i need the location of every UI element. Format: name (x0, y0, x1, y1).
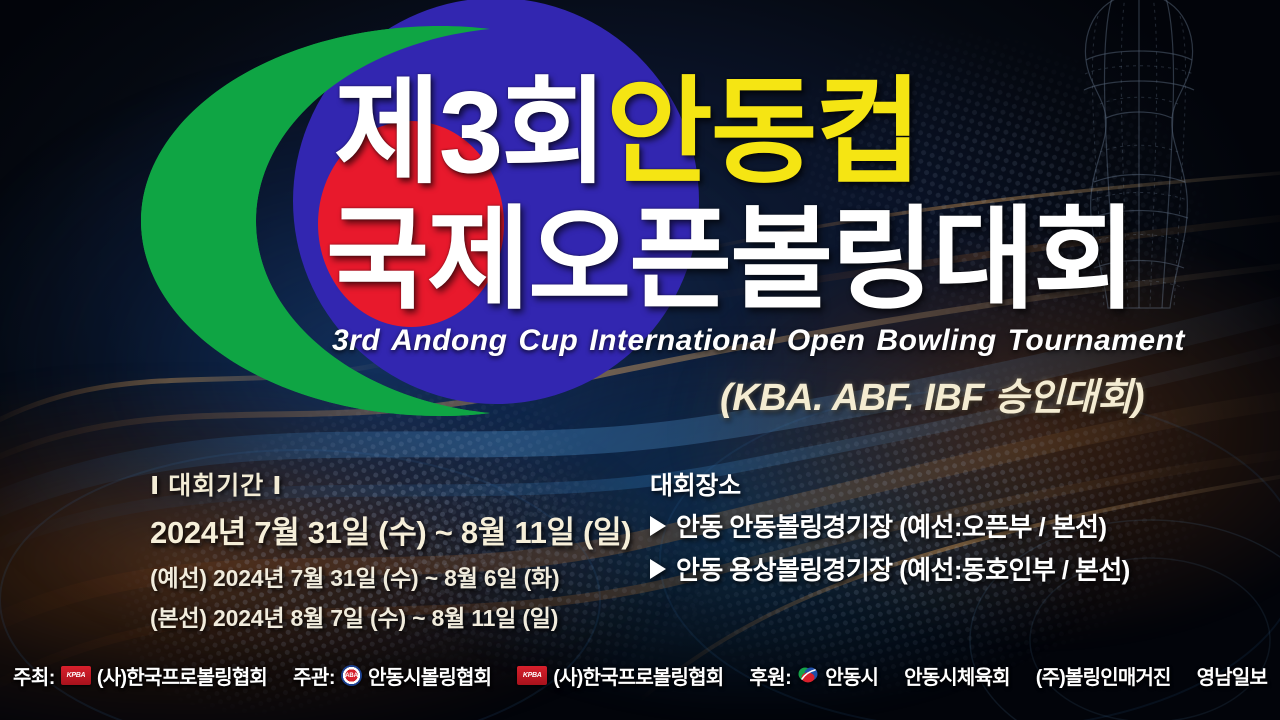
footer-label: 주최: (13, 661, 55, 690)
footer-label: 후원: (749, 661, 791, 690)
period-heading: Ⅰ 대회기간 Ⅰ (150, 466, 631, 502)
subtitle-word: International (589, 324, 776, 357)
footer-group-magazine: (주)볼링인매거진 (1036, 661, 1171, 690)
period-preliminary-row: (예선) 2024년 7월 31일 (수) ~ 8월 6일 (화) (150, 559, 631, 593)
footer-org-name: (사)한국프로볼링협회 (97, 661, 267, 690)
info-section: Ⅰ 대회기간 Ⅰ 2024년 7월 31일 (수) ~ 8월 11일 (일) (… (0, 466, 1280, 616)
subtitle-word: Cup (518, 324, 578, 357)
period-main-dates: 2024년 7월 31일 (수) ~ 8월 11일 (일) (150, 507, 631, 552)
footer-group-sponsor: 후원: 안동시 (749, 661, 878, 690)
footer-org-name: (주)볼링인매거진 (1036, 661, 1171, 690)
aba-logo-text: ABA (345, 673, 357, 679)
venue-row: 안동 용상볼링경기장 (예선:동호인부 / 본선) (650, 550, 1130, 587)
subtitle-word: Open (787, 324, 866, 357)
aba-logo-icon: ABA (341, 665, 362, 686)
venue-row: 안동 안동볼링경기장 (예선:오픈부 / 본선) (650, 507, 1130, 544)
triangle-bullet-icon (650, 516, 666, 536)
triangle-bullet-icon (650, 559, 666, 579)
subtitle-word: Andong (391, 324, 507, 357)
period-final-row: (본선) 2024년 8월 7일 (수) ~ 8월 11일 (일) (150, 599, 631, 633)
footer-org-name: 안동시체육회 (904, 661, 1010, 690)
footer-label: 주관: (293, 661, 335, 690)
footer-group-host: 주최: KPBA (사)한국프로볼링협회 (13, 661, 267, 690)
venue-heading: 대회장소 (650, 466, 1130, 502)
andong-city-logo-icon (797, 665, 819, 687)
footer-org-name: (사)한국프로볼링협회 (553, 661, 723, 690)
title-part-andongcup: 안동컵 (606, 67, 920, 197)
subtitle-english: 3rdAndongCupInternationalOpenBowlingTour… (332, 324, 1196, 358)
period-column: Ⅰ 대회기간 Ⅰ 2024년 7월 31일 (수) ~ 8월 11일 (일) (… (150, 466, 631, 639)
venue-label: 안동 안동볼링경기장 (예선:오픈부 / 본선) (676, 507, 1106, 544)
subtitle-word: 3rd (332, 324, 380, 357)
kpba-logo-icon: KPBA (517, 666, 547, 685)
subtitle-word: Tournament (1008, 324, 1185, 357)
approval-line: (KBA. ABF. IBF 승인대회) (720, 366, 1144, 421)
footer-group-sports-council: 안동시체육회 (904, 661, 1010, 690)
venue-label: 안동 용상볼링경기장 (예선:동호인부 / 본선) (676, 550, 1130, 587)
footer-group-organizer: 주관: ABA 안동시볼링협회 (293, 661, 491, 690)
poster-canvas: 제3회안동컵 국제오픈볼링대회 3rdAndongCupInternationa… (0, 0, 1280, 720)
sponsor-footer: 주최: KPBA (사)한국프로볼링협회 주관: ABA 안동시볼링협회 KPB… (0, 661, 1280, 690)
footer-group-newspaper: 영남일보 (1197, 661, 1267, 690)
title-line-1: 제3회안동컵 (334, 74, 920, 190)
title-block: 제3회안동컵 국제오픈볼링대회 3rdAndongCupInternationa… (0, 0, 1280, 430)
venue-column: 대회장소 안동 안동볼링경기장 (예선:오픈부 / 본선) 안동 용상볼링경기장… (650, 466, 1130, 593)
footer-group-organizer-2: KPBA (사)한국프로볼링협회 (517, 661, 723, 690)
subtitle-word: Bowling (877, 324, 997, 357)
footer-org-name: 안동시 (825, 661, 878, 690)
footer-org-name: 안동시볼링협회 (368, 661, 491, 690)
title-part-edition: 제3회 (334, 67, 606, 197)
title-line-2: 국제오픈볼링대회 (326, 204, 1134, 316)
kpba-logo-icon: KPBA (61, 666, 91, 685)
footer-org-name: 영남일보 (1197, 661, 1267, 690)
